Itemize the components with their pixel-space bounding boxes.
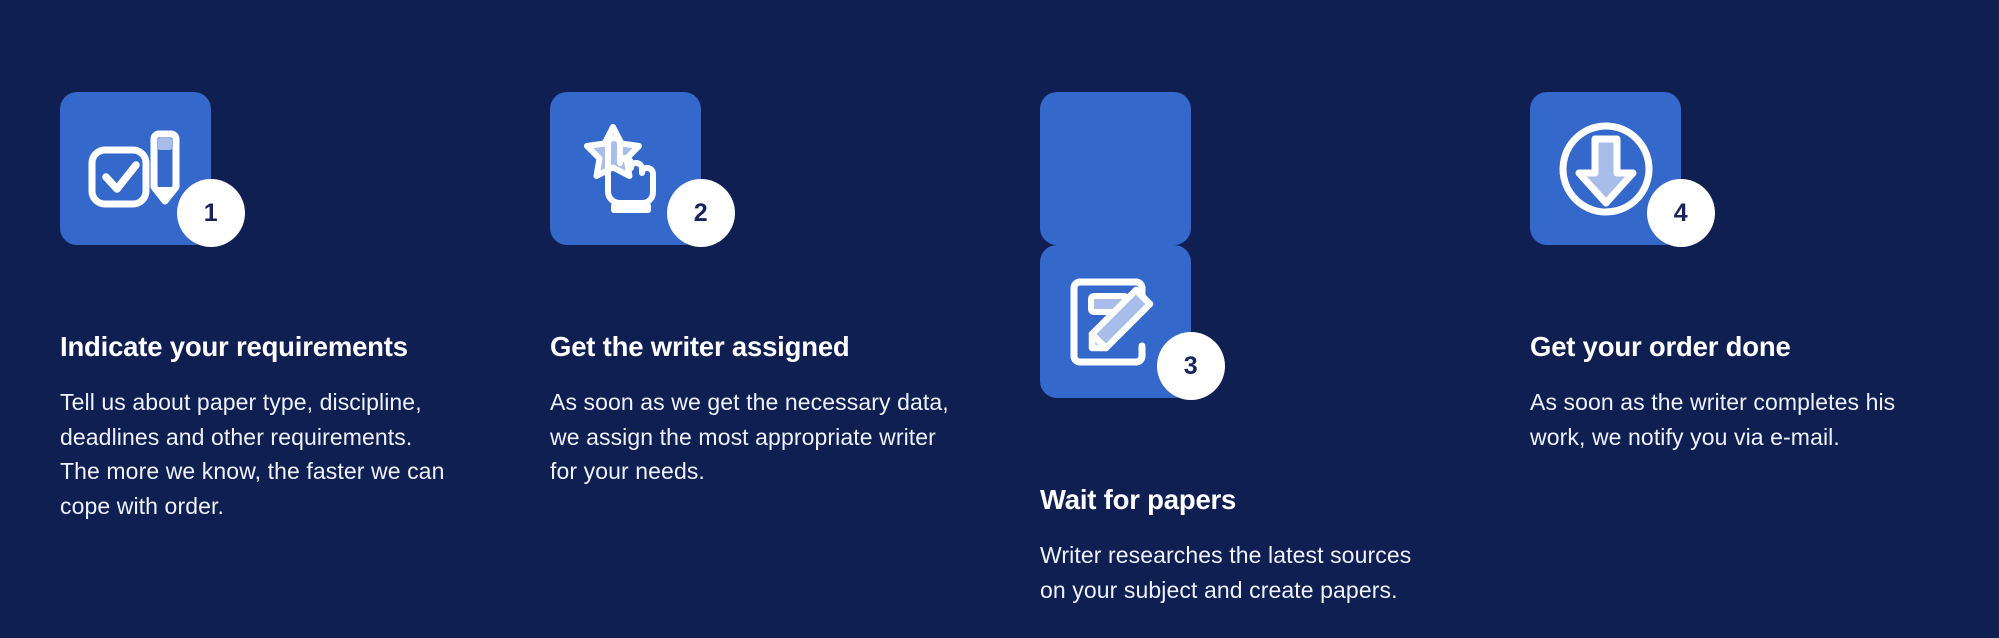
step-4-number: 4	[1674, 201, 1688, 226]
step-card-4: 4 Get your order done As soon as the wri…	[1530, 92, 1999, 454]
step-1-icon-area: 1	[60, 92, 245, 277]
step-card-2: 2 Get the writer assigned As soon as we …	[550, 92, 1040, 489]
checkbox-pencil-icon	[88, 130, 184, 208]
step-2-icon-area: 2	[550, 92, 735, 277]
download-circle-icon	[1558, 121, 1654, 217]
hand-tap-star-icon	[583, 123, 669, 215]
step-card-1: 1 Indicate your requirements Tell us abo…	[60, 92, 550, 523]
step-card-3: 3 Wait for papers Writer researches the …	[1040, 92, 1530, 607]
step-2-body: As soon as we get the necessary data, we…	[550, 385, 950, 489]
step-2-number: 2	[694, 201, 708, 226]
document-pencil-icon	[1070, 278, 1162, 366]
step-3-icon-area: 3	[1040, 245, 1225, 430]
step-3-title: Wait for papers	[1040, 483, 1530, 516]
step-2-title: Get the writer assigned	[550, 330, 1040, 363]
step-1-number-badge: 1	[177, 179, 245, 247]
step-1-title: Indicate your requirements	[60, 330, 550, 363]
step-3-number: 3	[1184, 354, 1198, 379]
how-it-works-section: 1 Indicate your requirements Tell us abo…	[0, 0, 1999, 638]
step-3-number-badge: 3	[1157, 332, 1225, 400]
step-3-body: Writer researches the latest sources on …	[1040, 538, 1432, 607]
step-1-body: Tell us about paper type, discipline, de…	[60, 385, 450, 523]
step-1-number: 1	[204, 201, 218, 226]
step-3-icon-tile-hidden	[1040, 92, 1191, 245]
step-2-number-badge: 2	[667, 179, 735, 247]
steps-row: 1 Indicate your requirements Tell us abo…	[60, 92, 1999, 607]
step-4-title: Get your order done	[1530, 330, 1999, 363]
step-4-icon-area: 4	[1530, 92, 1715, 277]
step-4-body: As soon as the writer completes his work…	[1530, 385, 1930, 454]
step-4-number-badge: 4	[1647, 179, 1715, 247]
